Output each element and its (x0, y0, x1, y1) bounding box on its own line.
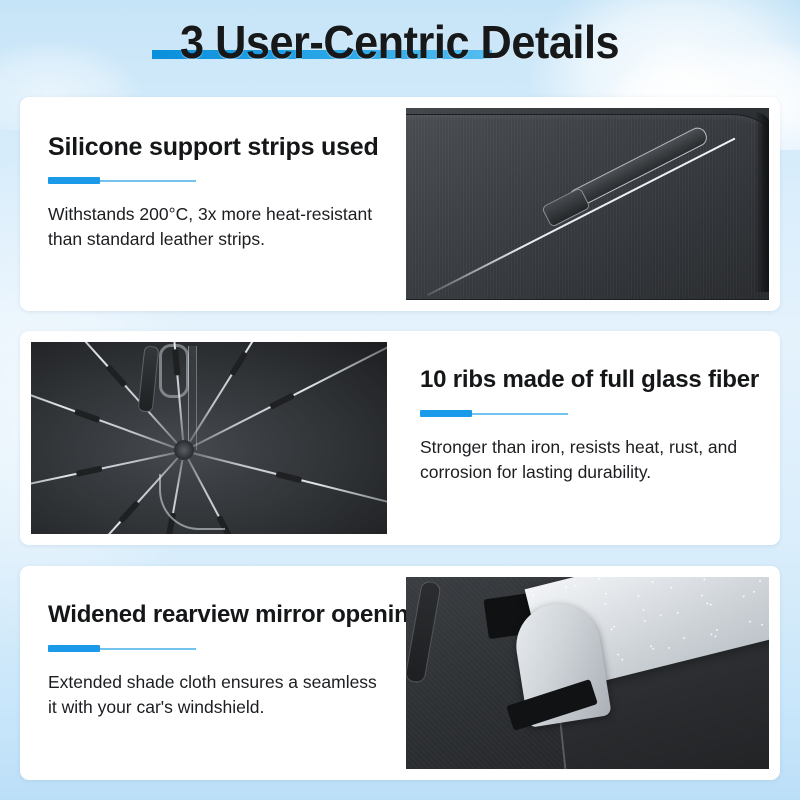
feature-card-1-divider (48, 177, 196, 184)
feature-card-3-photo-pane (395, 566, 780, 780)
umbrella-handle-shape (138, 345, 160, 412)
feature-card-2-text-pane: 10 ribs made of full glass fiber Stronge… (398, 331, 780, 545)
feature-card-2-body: Stronger than iron, resists heat, rust, … (420, 435, 750, 485)
feature-card-1: Silicone support strips used Withstands … (20, 97, 780, 311)
sunshade-edge-shape (755, 112, 769, 292)
feature-card-2: 10 ribs made of full glass fiber Stronge… (20, 331, 780, 545)
feature-card-3-text-pane: Widened rearview mirror opening Extended… (20, 566, 395, 780)
feature-card-2-headline: 10 ribs made of full glass fiber (420, 367, 762, 394)
umbrella-ribs-interior-photo (31, 342, 387, 534)
divider-thick-segment (48, 177, 100, 184)
feature-card-3: Widened rearview mirror opening Extended… (20, 566, 780, 780)
feature-card-3-divider (48, 645, 196, 652)
infographic-page: 3 User-Centric Details Silicone support … (0, 0, 800, 800)
feature-card-1-body: Withstands 200°C, 3x more heat-resistant… (48, 202, 377, 252)
sunshade-corner-silicone-strip-photo (406, 108, 769, 300)
umbrella-strap-shape (159, 344, 189, 398)
divider-thick-segment (420, 410, 472, 417)
feature-card-3-headline: Widened rearview mirror opening (48, 602, 377, 629)
page-title-wrapper: 3 User-Centric Details (0, 18, 800, 66)
page-title: 3 User-Centric Details (180, 18, 619, 66)
feature-card-1-text-pane: Silicone support strips used Withstands … (20, 97, 395, 311)
feature-card-2-divider (420, 410, 568, 417)
feature-card-2-photo-pane (20, 331, 398, 545)
umbrella-rib (184, 345, 387, 451)
feature-card-3-body: Extended shade cloth ensures a seamless … (48, 670, 377, 720)
feature-card-1-photo-pane (395, 97, 780, 311)
rearview-mirror-opening-strap-photo (406, 577, 769, 769)
umbrella-hub-shape (174, 440, 194, 460)
feature-card-1-headline: Silicone support strips used (48, 133, 377, 161)
divider-thick-segment (48, 645, 100, 652)
